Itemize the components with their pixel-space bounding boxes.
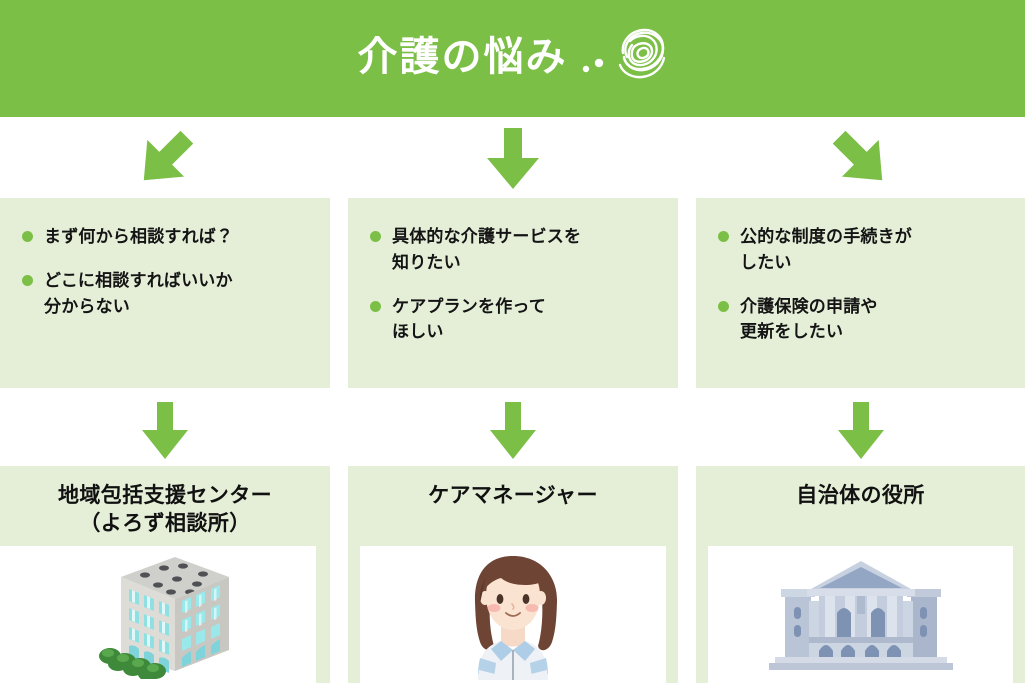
list-item: 介護保険の申請や更新をしたい — [718, 294, 1007, 346]
list-item: どこに相談すればいいか分からない — [22, 268, 312, 320]
city-hall-illustration — [708, 546, 1013, 683]
concern-text: ケアプランを作ってほしい — [392, 294, 546, 346]
list-item: 公的な制度の手続きがしたい — [718, 224, 1007, 276]
arrow-down-icon — [488, 402, 538, 460]
arrow-cell-5 — [348, 392, 678, 470]
arrow-cell-2 — [348, 120, 678, 198]
concern-text: 公的な制度の手続きがしたい — [740, 224, 912, 276]
concern-text: どこに相談すればいいか分からない — [44, 268, 233, 320]
arrow-cell-6 — [696, 392, 1025, 470]
office-building-illustration — [0, 546, 316, 683]
concern-text: まず何から相談すれば？ — [44, 224, 233, 250]
list-item: ケアプランを作ってほしい — [370, 294, 660, 346]
result-box-2: ケアマネージャー — [348, 466, 678, 683]
arrow-row-middle — [0, 392, 1025, 470]
bullet-dot-icon — [718, 231, 729, 242]
arrow-down-right-icon — [819, 117, 902, 200]
header-bar: 介護の悩み — [0, 0, 1025, 117]
concern-text: 具体的な介護サービスを知りたい — [392, 224, 581, 276]
result-title-1: 地域包括支援センター （よろず相談所） — [0, 466, 330, 544]
scribble-thought-icon — [582, 25, 668, 89]
list-item: まず何から相談すれば？ — [22, 224, 312, 250]
arrow-cell-3 — [696, 120, 1025, 198]
arrow-down-icon — [836, 402, 886, 460]
concern-box-3: 公的な制度の手続きがしたい 介護保険の申請や更新をしたい — [696, 198, 1025, 388]
concern-text: 介護保険の申請や更新をしたい — [740, 294, 878, 346]
page-title: 介護の悩み — [358, 37, 568, 77]
result-title-3: 自治体の役所 — [696, 466, 1025, 544]
concern-box-1: まず何から相談すれば？ どこに相談すればいいか分からない — [0, 198, 330, 388]
arrow-down-icon — [485, 128, 541, 190]
bullet-dot-icon — [22, 231, 33, 242]
bullet-dot-icon — [370, 301, 381, 312]
arrow-cell-1 — [0, 120, 330, 198]
bullet-dot-icon — [22, 275, 33, 286]
header-content: 介護の悩み — [358, 25, 668, 89]
arrow-row-top — [0, 120, 1025, 198]
result-title-line1: 自治体の役所 — [796, 484, 924, 507]
concern-box-2: 具体的な介護サービスを知りたい ケアプランを作ってほしい — [348, 198, 678, 388]
result-box-1: 地域包括支援センター （よろず相談所） — [0, 466, 330, 683]
list-item: 具体的な介護サービスを知りたい — [370, 224, 660, 276]
arrow-cell-4 — [0, 392, 330, 470]
bullet-dot-icon — [370, 231, 381, 242]
care-manager-person-illustration — [360, 546, 666, 683]
result-box-3: 自治体の役所 — [696, 466, 1025, 683]
bullet-dot-icon — [718, 301, 729, 312]
arrow-down-icon — [140, 402, 190, 460]
result-title-line1: 地域包括支援センター — [58, 484, 272, 507]
arrow-down-left-icon — [123, 117, 206, 200]
result-title-line1: ケアマネージャー — [428, 484, 598, 507]
result-title-2: ケアマネージャー — [348, 466, 678, 544]
result-title-line2: （よろず相談所） — [0, 510, 330, 538]
